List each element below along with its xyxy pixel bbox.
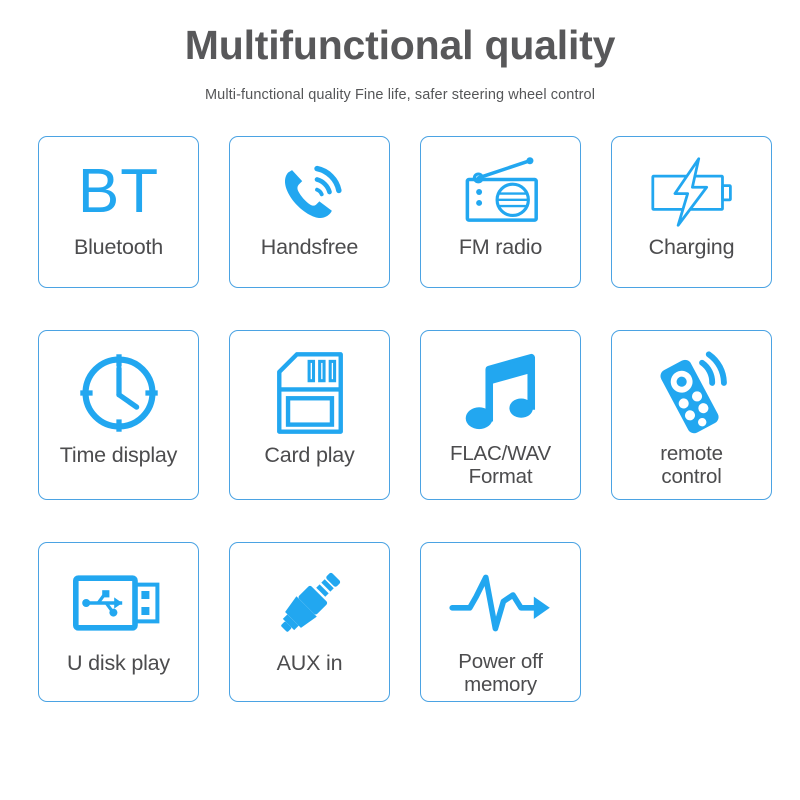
page-title: Multifunctional quality (0, 24, 800, 67)
feature-grid-page: Multifunctional quality Multi-functional… (0, 0, 800, 800)
feature-card-label: U disk play (63, 651, 174, 675)
feature-card-flac-wav-format[interactable]: FLAC/WAV Format (420, 330, 581, 500)
page-subtitle: Multi-functional quality Fine life, safe… (0, 87, 800, 103)
usb-flash-drive-icon (39, 557, 198, 649)
feature-card-label: FM radio (455, 235, 546, 259)
feature-card-remote-control[interactable]: remote control (611, 330, 772, 500)
feature-card-label: Power off memory (454, 651, 546, 697)
feature-card-aux-in[interactable]: AUX in (229, 542, 390, 702)
battery-lightning-icon (612, 151, 771, 233)
bt-letters: BT (78, 164, 159, 220)
music-note-icon (421, 345, 580, 441)
feature-card-charging[interactable]: Charging (611, 136, 772, 288)
feature-card-handsfree[interactable]: Handsfree (229, 136, 390, 288)
feature-card-label: Time display (56, 443, 181, 467)
page-header: Multifunctional quality Multi-functional… (0, 0, 800, 103)
feature-card-label: remote control (656, 443, 727, 489)
feature-card-power-off-memory[interactable]: Power off memory (420, 542, 581, 702)
feature-card-label: Charging (645, 235, 739, 259)
feature-row-3: U disk play (38, 542, 762, 702)
waveform-arrow-icon (421, 557, 580, 649)
radio-antenna-icon (421, 151, 580, 233)
feature-card-label: AUX in (273, 651, 347, 675)
clock-icon (39, 345, 198, 441)
feature-card-card-play[interactable]: Card play (229, 330, 390, 500)
phone-handset-signal-icon (230, 151, 389, 233)
feature-card-time-display[interactable]: Time display (38, 330, 199, 500)
remote-control-icon (612, 345, 771, 441)
feature-card-label: Handsfree (257, 235, 362, 259)
feature-card-label: Card play (260, 443, 358, 467)
feature-row-1: BT Bluetooth Handsfree (38, 136, 762, 288)
feature-card-label: Bluetooth (70, 235, 167, 259)
feature-row-2: Time display Card play (38, 330, 762, 500)
feature-card-fm-radio[interactable]: FM radio (420, 136, 581, 288)
audio-jack-plug-icon (230, 557, 389, 649)
feature-card-label: FLAC/WAV Format (446, 443, 555, 489)
bt-text-icon: BT (39, 151, 198, 233)
feature-card-u-disk-play[interactable]: U disk play (38, 542, 199, 702)
sd-card-icon (230, 345, 389, 441)
feature-card-bluetooth[interactable]: BT Bluetooth (38, 136, 199, 288)
feature-grid: BT Bluetooth Handsfree (38, 136, 762, 702)
